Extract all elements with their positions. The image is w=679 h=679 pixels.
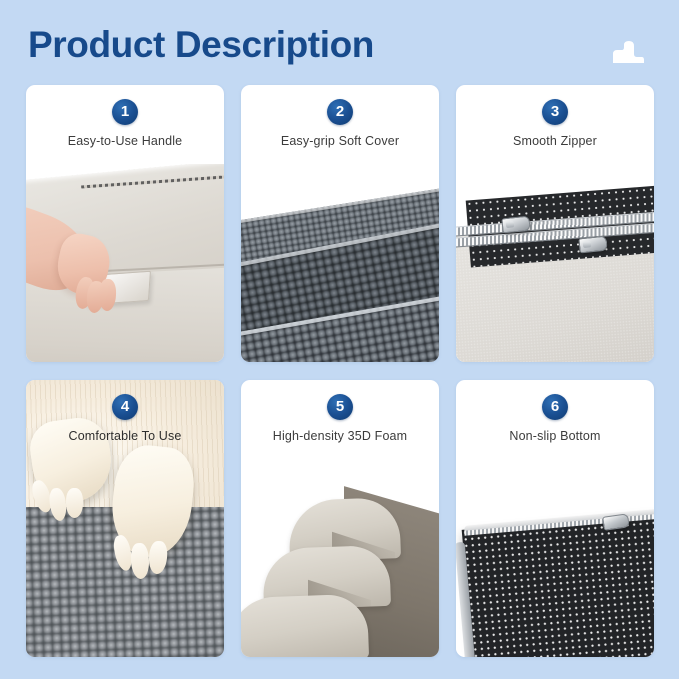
- card-3-photo: [456, 164, 654, 362]
- feature-card-grid: 1 Easy-to-Use Handle 2 Easy-grip Soft Co…: [26, 85, 655, 657]
- feature-card-3[interactable]: 3 Smooth Zipper: [456, 85, 654, 362]
- feature-card-1[interactable]: 1 Easy-to-Use Handle: [26, 85, 224, 362]
- card-3-number-badge: 3: [542, 99, 568, 125]
- product-description-infographic: Product Description 1 Easy-t: [0, 0, 679, 679]
- card-6-photo: [456, 482, 654, 657]
- feature-card-2[interactable]: 2 Easy-grip Soft Cover: [241, 85, 439, 362]
- card-1-number-badge: 1: [112, 99, 138, 125]
- stair-step-icon: [611, 38, 645, 64]
- feature-card-4[interactable]: 4 Comfortable To Use: [26, 380, 224, 657]
- card-5-header: 5 High-density 35D Foam: [241, 380, 439, 444]
- card-2-photo: [241, 164, 439, 362]
- page-title: Product Description: [28, 23, 374, 67]
- card-3-caption: Smooth Zipper: [456, 134, 654, 149]
- card-1-header: 1 Easy-to-Use Handle: [26, 85, 224, 149]
- card-2-number-badge: 2: [327, 99, 353, 125]
- header: Product Description: [0, 0, 679, 85]
- card-5-photo: [241, 477, 439, 657]
- card-5-caption: High-density 35D Foam: [241, 429, 439, 444]
- card-1-photo: [26, 164, 224, 362]
- card-6-header: 6 Non-slip Bottom: [456, 380, 654, 444]
- card-5-number-badge: 5: [327, 394, 353, 420]
- card-6-number-badge: 6: [542, 394, 568, 420]
- card-2-header: 2 Easy-grip Soft Cover: [241, 85, 439, 149]
- card-2-caption: Easy-grip Soft Cover: [241, 134, 439, 149]
- card-4-photo: [26, 380, 224, 657]
- feature-card-6[interactable]: 6 Non-slip Bottom: [456, 380, 654, 657]
- card-3-header: 3 Smooth Zipper: [456, 85, 654, 149]
- card-6-caption: Non-slip Bottom: [456, 429, 654, 444]
- card-1-caption: Easy-to-Use Handle: [26, 134, 224, 149]
- feature-card-5[interactable]: 5 High-density 35D Foam: [241, 380, 439, 657]
